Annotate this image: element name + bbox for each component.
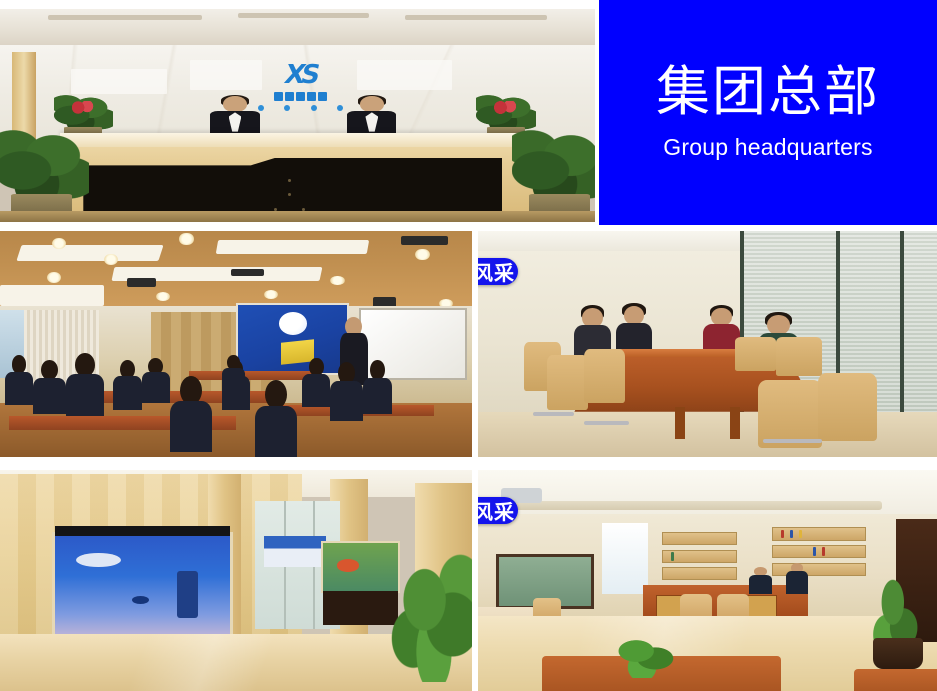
window: [602, 523, 648, 594]
attendee: [142, 358, 170, 403]
training-scene: [0, 231, 472, 457]
wall-poster: [264, 536, 325, 567]
chair-frame: [763, 439, 823, 444]
bookshelf: [772, 527, 866, 540]
attendee: [5, 355, 33, 405]
logo-mark-xs: XS: [241, 60, 360, 90]
table-leg: [675, 407, 684, 439]
plant-pot: [873, 638, 923, 669]
wall-panel: [357, 60, 452, 90]
projector: [127, 278, 155, 287]
reception-lobby-photo[interactable]: XS: [0, 9, 595, 222]
side-table: [854, 669, 937, 691]
executive-office-photo[interactable]: 总部风采: [478, 470, 937, 691]
attendee: [170, 376, 212, 453]
ceiling-vent: [231, 269, 264, 276]
floor: [0, 211, 595, 222]
lobby-aquarium-photo[interactable]: 总部风采: [0, 470, 472, 691]
ceiling-light: [104, 254, 118, 265]
chair: [776, 337, 822, 375]
chair-frame: [533, 412, 574, 417]
attendee: [302, 358, 330, 408]
slide-graphic: [279, 312, 307, 335]
photo-caption-badge: 总部风采: [478, 258, 518, 285]
logo-name-cn: [248, 91, 352, 102]
ceiling: [478, 470, 937, 519]
attendee: [330, 362, 363, 421]
ceiling-slot: [238, 13, 369, 18]
logo-sub-icons: [258, 104, 344, 112]
attendee: [66, 353, 104, 416]
ceiling-panel: [216, 240, 369, 254]
ceiling-light: [156, 292, 170, 301]
attendee: [113, 360, 141, 410]
chair-frame: [584, 421, 630, 426]
meeting-room-photo[interactable]: 总部风采: [478, 231, 937, 457]
ceiling-light: [415, 249, 429, 260]
ceiling-light: [52, 238, 66, 249]
ceiling-panel: [16, 245, 163, 261]
reception-desk: [60, 133, 536, 222]
ceiling-light: [179, 233, 193, 244]
chair: [547, 355, 588, 409]
floor-plant: [512, 128, 595, 222]
bookshelf: [662, 567, 737, 580]
floor-plant: [0, 128, 89, 222]
ceiling-slot: [48, 15, 203, 20]
ceiling-slot: [405, 15, 548, 20]
bookshelf: [662, 532, 737, 545]
page-title-en: Group headquarters: [663, 134, 872, 161]
aquarium-hood: [55, 526, 230, 536]
page-title-cn: 集团总部: [656, 64, 880, 121]
table-leg: [730, 407, 739, 439]
reception-scene: XS: [0, 9, 595, 222]
chair: [735, 337, 776, 371]
large-aquarium: [52, 532, 233, 640]
chair: [758, 380, 822, 448]
lobby-scene: [0, 470, 472, 691]
chair: [818, 373, 878, 441]
window-mullion: [900, 231, 904, 434]
chair: [584, 349, 625, 403]
attendee: [363, 360, 391, 414]
ceiling-light: [330, 276, 344, 285]
desk-top: [60, 133, 536, 147]
headquarters-title-panel: 集团总部 Group headquarters: [599, 0, 937, 225]
attendee: [255, 380, 297, 457]
receptionist: [345, 96, 399, 134]
training-room-photo[interactable]: 总部风采: [0, 231, 472, 457]
ceiling-cove: [506, 501, 882, 510]
receptionist: [208, 96, 262, 134]
ceiling-vent: [401, 236, 448, 245]
seated-person: [749, 567, 772, 594]
ceiling-panel: [0, 285, 104, 305]
wall-panel: [71, 69, 166, 95]
desk-front-panel: [83, 158, 502, 213]
photo-caption-badge: 总部风采: [478, 497, 518, 524]
group-headquarters-collage: XS: [0, 0, 937, 691]
attendee: [222, 355, 246, 393]
table-plant: [607, 629, 680, 678]
bookshelf: [772, 545, 866, 558]
meeting-scene: [478, 231, 937, 457]
floor-plant: [387, 545, 472, 682]
attendee: [33, 360, 66, 414]
office-scene: [478, 470, 937, 691]
standing-person: [786, 563, 809, 594]
